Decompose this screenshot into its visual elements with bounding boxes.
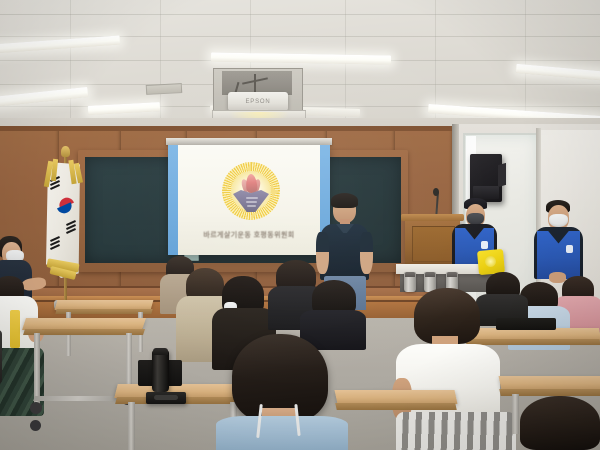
attendee-l2-chair <box>0 330 2 384</box>
desk-leg <box>128 402 135 450</box>
tumbler-lid <box>153 348 168 355</box>
slide-caption-text: 바르게살기운동 호평동위원회 <box>203 230 294 240</box>
wall-upper-trim <box>0 126 452 131</box>
flag-finial <box>61 146 70 157</box>
staff-right-mask <box>549 214 568 227</box>
ceiling-vent <box>146 83 182 95</box>
presenter-arm-left <box>316 232 329 274</box>
desk <box>499 376 600 390</box>
smartphone-screen <box>154 395 178 400</box>
desk-modesty-panel <box>496 318 556 330</box>
screen-letterbox-band-left <box>168 145 178 255</box>
desk-edge <box>335 403 456 410</box>
photo-scene: EPSON <box>0 0 600 450</box>
lectern-front-panel <box>412 226 455 262</box>
thermos <box>404 272 416 292</box>
yellow-bag-emblem <box>485 256 496 267</box>
attendee-f1-torso <box>216 416 348 450</box>
chair-caster <box>30 420 41 431</box>
flag-fringe <box>44 157 82 285</box>
projector-brand-label: EPSON <box>245 99 270 105</box>
presenter-arm-right <box>360 232 373 274</box>
staff-right-vest-emblem <box>566 245 573 253</box>
desk-caster <box>30 402 42 414</box>
attendee-l2-stripe <box>10 310 20 348</box>
attendee-r1-chair <box>396 412 516 450</box>
desk-edge <box>465 339 600 345</box>
desk-leg <box>512 394 519 434</box>
attendee-r1-torso <box>396 344 500 422</box>
attendee-r4-hair <box>520 396 600 450</box>
wall-speaker-mount <box>498 163 506 187</box>
tumbler <box>152 350 169 392</box>
slide-caption: 바르게살기운동 호평동위원회 <box>178 228 320 241</box>
projector-mount-arm <box>254 74 256 92</box>
desk <box>335 390 458 404</box>
desk-leg <box>34 333 40 405</box>
staff-left-vest-emblem <box>481 241 488 249</box>
lectern-top <box>401 214 464 221</box>
screen-roller-housing <box>166 138 332 145</box>
presenter-hair <box>331 193 358 208</box>
slide-logo <box>222 162 280 220</box>
microphone-icon <box>433 188 439 196</box>
